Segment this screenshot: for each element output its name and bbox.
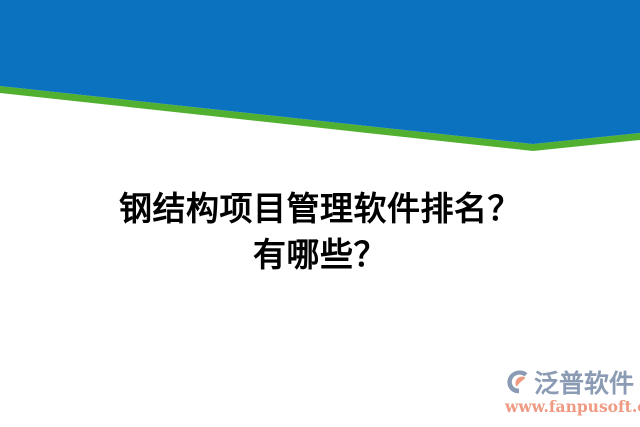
header-banner bbox=[0, 0, 640, 160]
brand-row: 泛普软件 bbox=[503, 366, 634, 398]
page-title-line-1: 钢结构项目管理软件排名？ bbox=[0, 186, 640, 232]
page-title-line-2: 有哪些？ bbox=[0, 232, 640, 278]
fanpu-swoosh-icon bbox=[503, 367, 533, 397]
slide-canvas: 钢结构项目管理软件排名？ 有哪些？ 泛普软件 www.fanpusoft.com bbox=[0, 0, 640, 427]
brand-watermark: 泛普软件 www.fanpusoft.com bbox=[503, 366, 637, 418]
brand-url-label: www.fanpusoft.com bbox=[505, 397, 640, 416]
page-title: 钢结构项目管理软件排名？ 有哪些？ bbox=[0, 186, 640, 278]
brand-name-label: 泛普软件 bbox=[534, 364, 634, 400]
